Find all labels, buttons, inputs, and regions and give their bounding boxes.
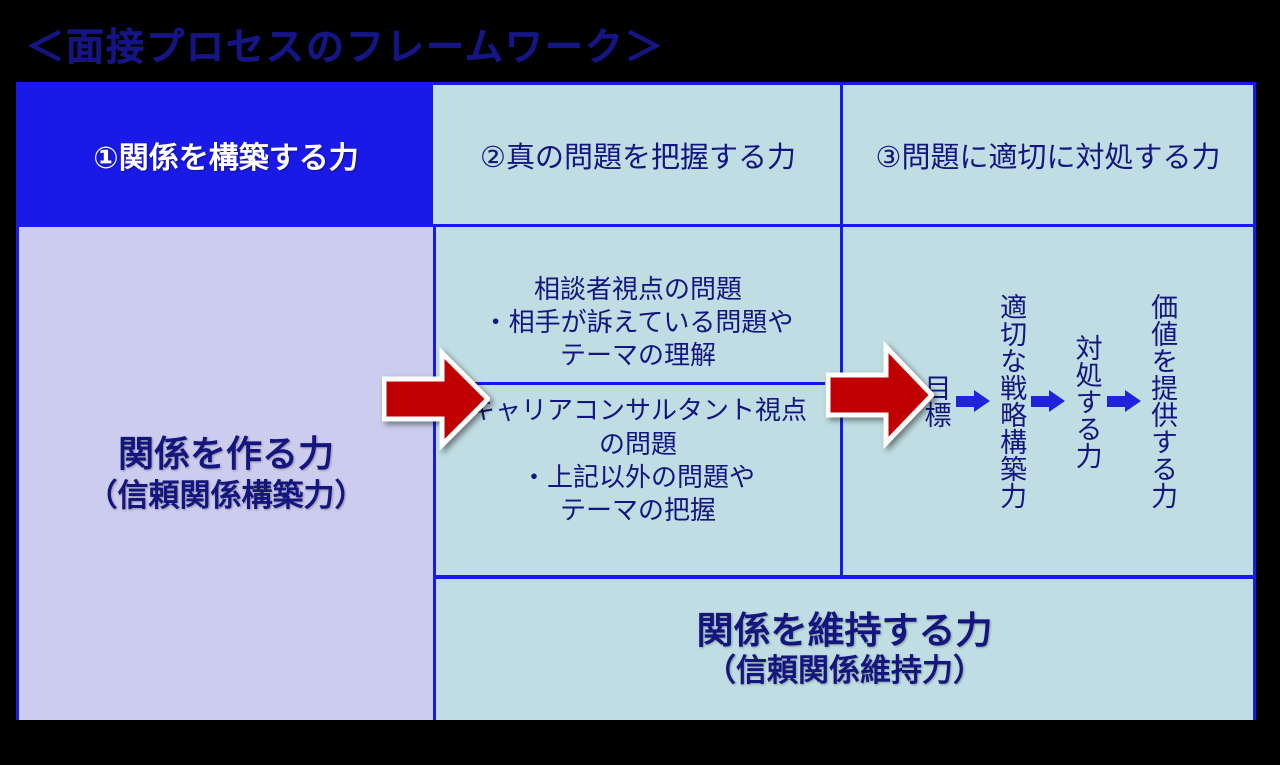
middle-top-line-2: ・相手が訴えている問題や <box>483 307 794 340</box>
table-header-label-1: ①関係を構築する力 <box>93 133 358 177</box>
left-cell-subtitle: （信頼関係構築力） <box>87 477 366 516</box>
middle-top-line-1: 相談者視点の問題 <box>483 274 794 307</box>
framework-table: ①関係を構築する力 ②真の問題を把握する力 ③問題に適切に対処する力 関係を作る… <box>16 82 1256 720</box>
middle-column-cell: 相談者視点の問題 ・相手が訴えている問題や テーマの理解 キャリアコンサルタント… <box>436 227 840 575</box>
header-column-divider <box>840 85 843 224</box>
flow-step-2: 適切な戦略構築力 <box>997 293 1025 509</box>
flow-step-3: 対処する力 <box>1072 334 1100 469</box>
right-arrow-icon <box>1107 390 1141 412</box>
page-title: ＜面接プロセスのフレームワーク＞ <box>26 16 665 71</box>
middle-top-line-3: テーマの理解 <box>483 340 794 373</box>
left-column-cell: 関係を作る力 （信頼関係構築力） <box>19 227 433 720</box>
middle-bottom-line-1: キャリアコンサルタント視点 <box>469 395 807 428</box>
flow-step-4: 価値を提供する力 <box>1148 293 1176 509</box>
table-header-column-3[interactable]: ③問題に適切に対処する力 <box>843 85 1253 224</box>
middle-cell-bottom-block: キャリアコンサルタント視点 の問題 ・上記以外の問題や テーマの把握 <box>469 395 807 528</box>
table-header-label-2: ②真の問題を把握する力 <box>480 134 796 176</box>
bottom-band-title: 関係を維持する力 <box>697 608 993 653</box>
left-cell-title: 関係を作る力 <box>118 432 334 477</box>
table-header-label-3: ③問題に適切に対処する力 <box>876 134 1221 176</box>
middle-cell-divider <box>451 382 825 385</box>
bottom-band-cell: 関係を維持する力 （信頼関係維持力） <box>436 579 1253 720</box>
middle-cell-top-block: 相談者視点の問題 ・相手が訴えている問題や テーマの理解 <box>483 274 794 374</box>
middle-bottom-line-3: ・上記以外の問題や <box>469 462 807 495</box>
bottom-band-subtitle: （信頼関係維持力） <box>705 653 984 691</box>
middle-bottom-line-4: テーマの把握 <box>469 495 807 528</box>
middle-bottom-line-2: の問題 <box>469 429 807 462</box>
table-header-column-1[interactable]: ①関係を構築する力 <box>19 85 433 224</box>
slide-canvas: ＜面接プロセスのフレームワーク＞ ①関係を構築する力 ②真の問題を把握する力 ③… <box>0 0 1280 765</box>
right-arrow-icon <box>1031 390 1065 412</box>
table-header-column-2[interactable]: ②真の問題を把握する力 <box>436 85 840 224</box>
red-block-arrow-1 <box>382 345 490 453</box>
right-arrow-icon <box>956 390 990 412</box>
red-block-arrow-2 <box>826 339 934 451</box>
